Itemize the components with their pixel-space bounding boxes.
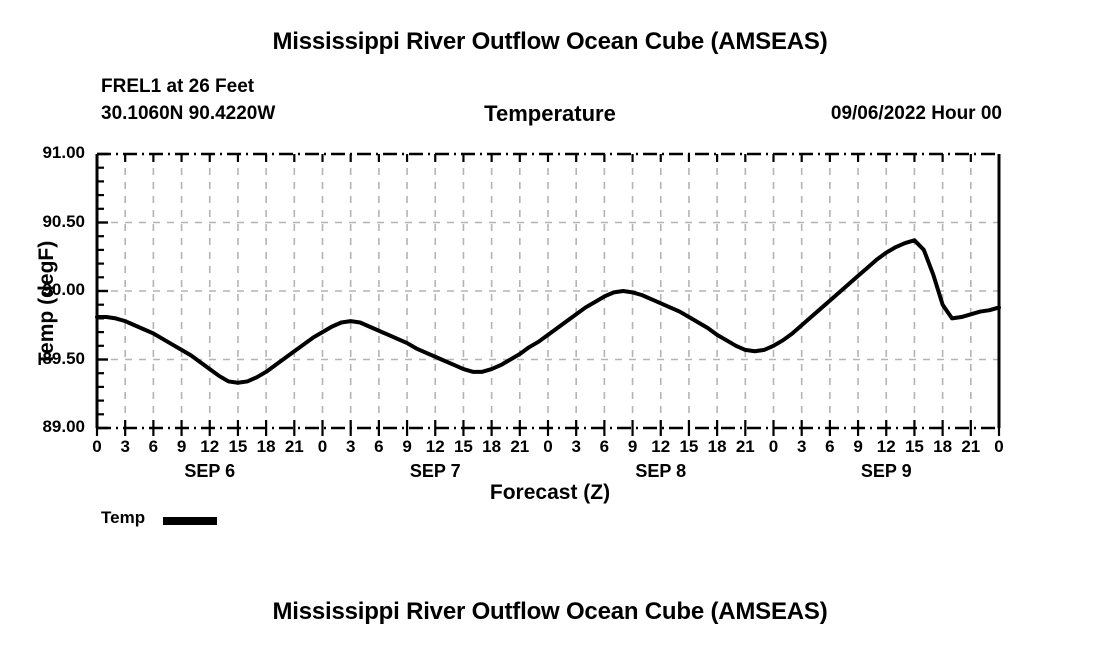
x-axis-title: Forecast (Z) (0, 481, 1100, 505)
day-label: SEP 6 (150, 461, 270, 482)
legend-label-temp: Temp (101, 508, 145, 528)
day-label: SEP 7 (375, 461, 495, 482)
y-tick-label: 89.50 (5, 349, 85, 369)
axis-ticks (97, 154, 999, 436)
y-tick-label: 91.00 (5, 143, 85, 163)
y-tick-label: 90.00 (5, 280, 85, 300)
grid-lines (97, 154, 999, 428)
y-tick-label: 89.00 (5, 417, 85, 437)
day-label: SEP 8 (601, 461, 721, 482)
station-label: FREL1 at 26 Feet (101, 76, 254, 98)
legend-swatch-temp (163, 517, 217, 525)
data-series (97, 240, 999, 382)
page-title-bottom: Mississippi River Outflow Ocean Cube (AM… (0, 598, 1100, 626)
plot-frame (97, 154, 999, 428)
day-label: SEP 9 (826, 461, 946, 482)
chart-canvas: Mississippi River Outflow Ocean Cube (AM… (0, 0, 1100, 650)
page-title-top: Mississippi River Outflow Ocean Cube (AM… (0, 28, 1100, 56)
y-axis-title: Temp (degF) (35, 203, 59, 403)
y-tick-label: 90.50 (5, 212, 85, 232)
run-datetime-label: 09/06/2022 Hour 00 (831, 103, 1002, 125)
x-tick-label: 0 (979, 437, 1019, 457)
